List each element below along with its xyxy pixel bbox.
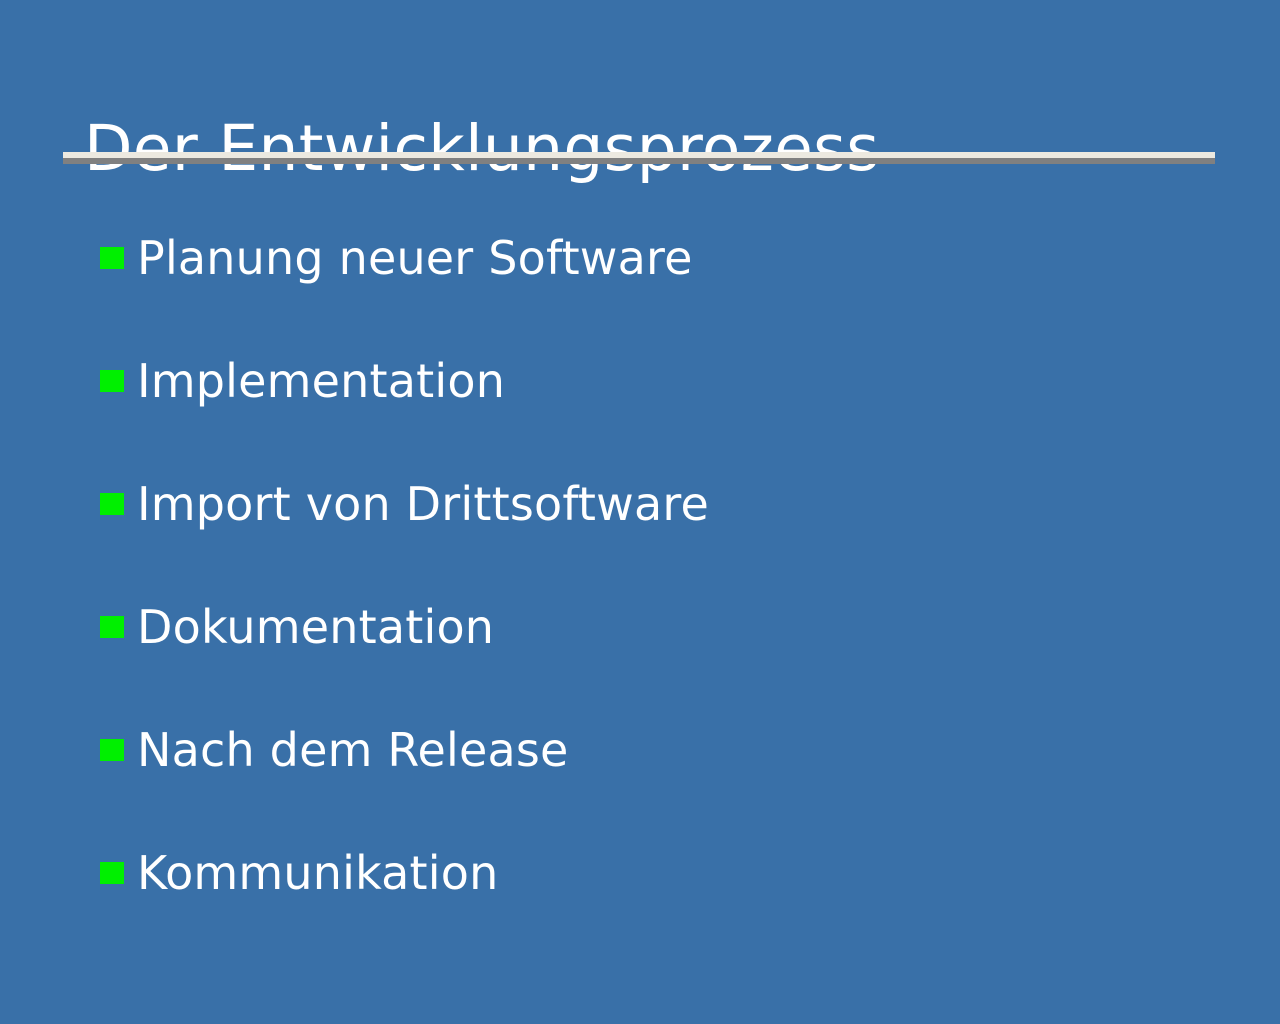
list-item-label: Planung neuer Software [137, 224, 693, 292]
slide-title-block: Der Entwicklungsprozess [63, 64, 1215, 234]
square-bullet-icon [100, 247, 124, 269]
list-item-label: Kommunikation [137, 839, 498, 907]
square-bullet-icon [100, 370, 124, 392]
list-item: Implementation [100, 347, 1200, 470]
list-item-label: Import von Drittsoftware [137, 470, 709, 538]
page-title: Der Entwicklungsprozess [63, 106, 1215, 192]
list-item-label: Dokumentation [137, 593, 494, 661]
square-bullet-icon [100, 862, 124, 884]
bullet-list: Planung neuer Software Implementation Im… [100, 224, 1200, 962]
list-item: Dokumentation [100, 593, 1200, 716]
list-item: Import von Drittsoftware [100, 470, 1200, 593]
list-item: Nach dem Release [100, 716, 1200, 839]
square-bullet-icon [100, 493, 124, 515]
square-bullet-icon [100, 739, 124, 761]
title-divider-dark-band [63, 158, 1215, 164]
list-item-label: Implementation [137, 347, 505, 415]
list-item: Kommunikation [100, 839, 1200, 962]
presentation-slide: Der Entwicklungsprozess Planung neuer So… [0, 0, 1280, 1024]
list-item: Planung neuer Software [100, 224, 1200, 347]
title-divider [63, 152, 1215, 164]
list-item-label: Nach dem Release [137, 716, 569, 784]
square-bullet-icon [100, 616, 124, 638]
